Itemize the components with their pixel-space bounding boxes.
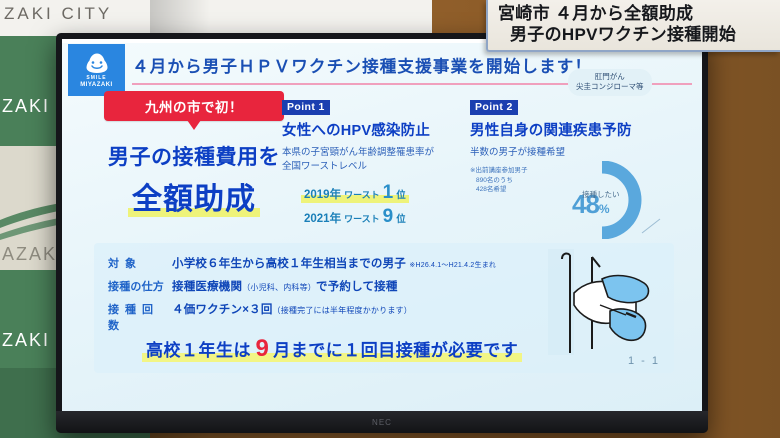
mountain-smile-icon [84,52,110,74]
point-1-tag: Point 1 [282,100,330,115]
related-disease-callout: 肛門がん 尖圭コンジローマ等 [568,69,652,96]
rank-year: 2019年 [304,186,341,202]
donut-percent-symbol: % [599,202,609,216]
point-2-note-line-1: ※出前講座参加男子 [470,167,527,174]
monitor-bezel: NEC [56,411,708,433]
news-headline-banner: 宮崎市 ４月から全額助成 男子のHPVワクチン接種開始 [486,0,780,52]
backdrop-band-label-1: ZAKI [2,96,50,117]
vaccination-intent-donut: 48% [554,161,650,239]
point-2-subtitle: 半数の男子が接種希望 [470,146,686,160]
rank-row: 2021年 ワースト 9 位 [304,206,406,228]
deadline-callout: 高校１年生は 9 月までに１回目接種が必要です [146,335,518,363]
detail-value-paren: （接種完了には半年程度かかります） [273,306,412,315]
monitor-brand-logo: NEC [372,418,392,427]
deadline-month-number: 9 [255,335,268,362]
monitor-screen: SMILE MIYAZAKI ４月から男子ＨＰＶワクチン接種支援事業を開始します… [62,39,702,411]
highlight-block: 九州の市で初！ 男子の接種費用を 全額助成 [104,91,284,218]
logo-text-miyazaki: MIYAZAKI [80,82,112,88]
detail-value: ４価ワクチン×３回（接種完了には半年程度かかります） [172,301,412,317]
highlight-line-2-wrap: 全額助成 [104,174,284,218]
detail-row-target: 対象 小学校６年生から高校１年生相当までの男子 ※H26.4.1〜H21.4.2… [108,255,496,271]
rank-worst-label: ワースト [344,188,380,201]
detail-label: 対象 [108,255,172,271]
detail-value-text: 小学校６年生から高校１年生相当までの男子 [172,258,406,270]
point-1-title: 女性へのHPV感染防止 [282,119,462,140]
backdrop-band-label-3: ZAKI [2,330,50,351]
first-in-kyushu-badge: 九州の市で初！ [104,91,284,121]
highlight-line-1: 男子の接種費用を [104,141,284,171]
detail-value-text: 接種医療機関 [172,281,242,293]
news-headline-line-2: 男子のHPVワクチン接種開始 [498,25,772,46]
point-1-subtitle-line-1: 本県の子宮頸がん年齢調整罹患率が [282,146,462,160]
backdrop-top-label: ZAKI CITY [4,4,112,24]
deadline-suffix: 月までに１回目接種が必要です [273,341,518,360]
rank-number: 9 [383,206,394,228]
rank-number: 1 [383,182,394,204]
callout-line-2: 尖圭コンジローマ等 [576,82,644,92]
detail-row-method: 接種の仕方 接種医療機関（小児科、内科等）で予約して接種 [108,278,496,294]
callout-line-1: 肛門がん [576,72,644,82]
detail-value-text: ４価ワクチン×３回 [172,304,273,316]
news-headline-line-1: 宮崎市 ４月から全額助成 [498,4,772,25]
highlight-line-2-text: 全額助成 [132,183,256,216]
donut-label: 接種したい [582,189,620,200]
slide-page-number: 1 - 1 [628,355,660,367]
point-1-card: Point 1 女性へのHPV感染防止 本県の子宮頸がん年齢調整罹患率が 全国ワ… [282,97,462,230]
point-2-tag: Point 2 [470,100,518,115]
slide: SMILE MIYAZAKI ４月から男子ＨＰＶワクチン接種支援事業を開始します… [62,39,702,411]
logo-text-smile: SMILE [86,75,106,81]
smile-miyazaki-logo: SMILE MIYAZAKI [68,44,125,96]
presentation-monitor: SMILE MIYAZAKI ４月から男子ＨＰＶワクチン接種支援事業を開始します… [56,33,708,433]
detail-value: 小学校６年生から高校１年生相当までの男子 ※H26.4.1〜H21.4.2生まれ [172,255,496,271]
rank-unit: 位 [396,187,406,201]
detail-label: 接種の仕方 [108,278,172,294]
rank-row: 2019年 ワースト 1 位 [304,182,406,204]
detail-label: 接種回数 [108,301,172,333]
point-1-subtitle: 本県の子宮頸がん年齢調整罹患率が 全国ワーストレベル [282,146,462,174]
vaccination-illustration [540,249,658,361]
point-2-title: 男性自身の関連疾患予防 [470,119,686,140]
donut-leader-line [640,215,670,237]
detail-value-note: ※H26.4.1〜H21.4.2生まれ [409,262,496,269]
broadcast-screenshot: ZAKI CITY ZAKI AZAKI C ZAKI [0,0,780,438]
highlight-line-2: 全額助成 [128,174,260,218]
detail-value-tail: で予約して接種 [316,281,398,293]
point-1-subtitle-line-2: 全国ワーストレベル [282,160,462,174]
detail-value-paren: （小児科、内科等） [242,283,316,292]
detail-value: 接種医療機関（小児科、内科等）で予約して接種 [172,278,398,294]
rank-unit: 位 [396,211,406,225]
rank-worst-label: ワースト [344,212,380,225]
details-rows: 対象 小学校６年生から高校１年生相当までの男子 ※H26.4.1〜H21.4.2… [108,255,496,340]
rank-list: 2019年 ワースト 1 位 2021年 ワースト 9 位 [282,182,462,228]
point-2-card: 肛門がん 尖圭コンジローマ等 Point 2 男性自身の関連疾患予防 半数の男子… [470,97,686,195]
rank-year: 2021年 [304,210,341,226]
detail-row-doses: 接種回数 ４価ワクチン×３回（接種完了には半年程度かかります） [108,301,496,333]
deadline-prefix: 高校１年生は [146,341,251,360]
details-panel: 対象 小学校６年生から高校１年生相当までの男子 ※H26.4.1〜H21.4.2… [94,243,674,373]
